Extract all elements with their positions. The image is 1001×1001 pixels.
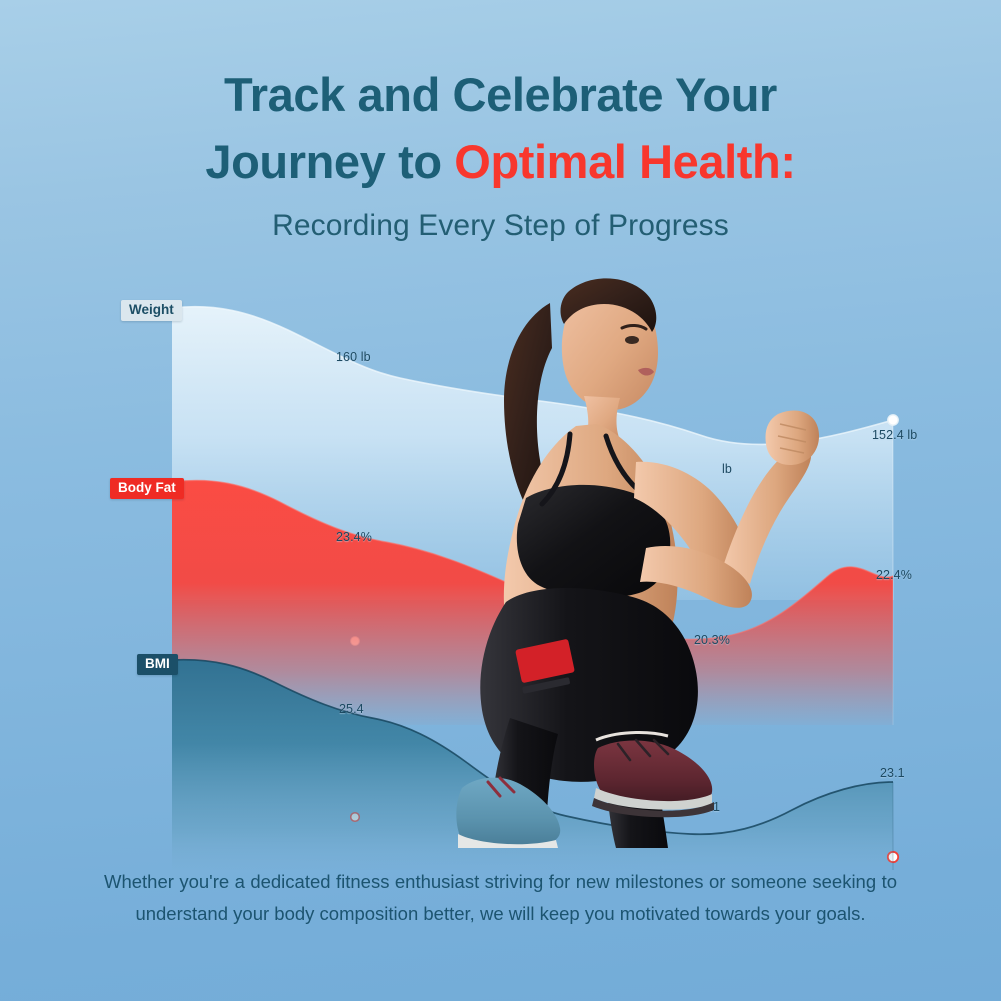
- weight-label-1: 160 lb: [336, 350, 371, 364]
- body-fat-label-2: 20.3%: [694, 633, 730, 647]
- bmi-label-2: 22.7: [518, 783, 543, 797]
- header: Track and Celebrate Your Journey to Opti…: [0, 0, 1001, 243]
- page-title: Track and Celebrate Your Journey to Opti…: [0, 62, 1001, 195]
- title-line-2-plain: Journey to: [205, 135, 454, 188]
- body-fat-label-3: 22.4%: [876, 568, 912, 582]
- chart-canvas: [0, 270, 1001, 870]
- title-line-2-accent: Optimal Health:: [454, 135, 795, 188]
- page-subtitle: Recording Every Step of Progress: [0, 209, 1001, 243]
- weight-point-3[interactable]: [888, 415, 898, 425]
- footer-paragraph: Whether you're a dedicated fitness enthu…: [104, 866, 897, 930]
- bmi-label-1: 25.4: [339, 702, 364, 716]
- body-fat-label-1: 23.4%: [336, 530, 372, 544]
- series-badge-bmi[interactable]: BMI: [137, 654, 178, 675]
- series-badge-body-fat[interactable]: Body Fat: [110, 478, 184, 499]
- series-badge-weight[interactable]: Weight: [121, 300, 182, 321]
- footer: Whether you're a dedicated fitness enthu…: [104, 866, 897, 930]
- title-line-1: Track and Celebrate Your: [60, 62, 941, 129]
- weight-label-3: 152.4 lb: [872, 428, 917, 442]
- body-metrics-chart: Weight Body Fat BMI 160 lb lb 152.4 lb 2…: [0, 270, 1001, 870]
- bmi-label-4: 23.1: [880, 766, 905, 780]
- title-line-2: Journey to Optimal Health:: [60, 129, 941, 196]
- weight-label-2: lb: [722, 462, 732, 476]
- bmi-label-3: 21: [706, 800, 720, 814]
